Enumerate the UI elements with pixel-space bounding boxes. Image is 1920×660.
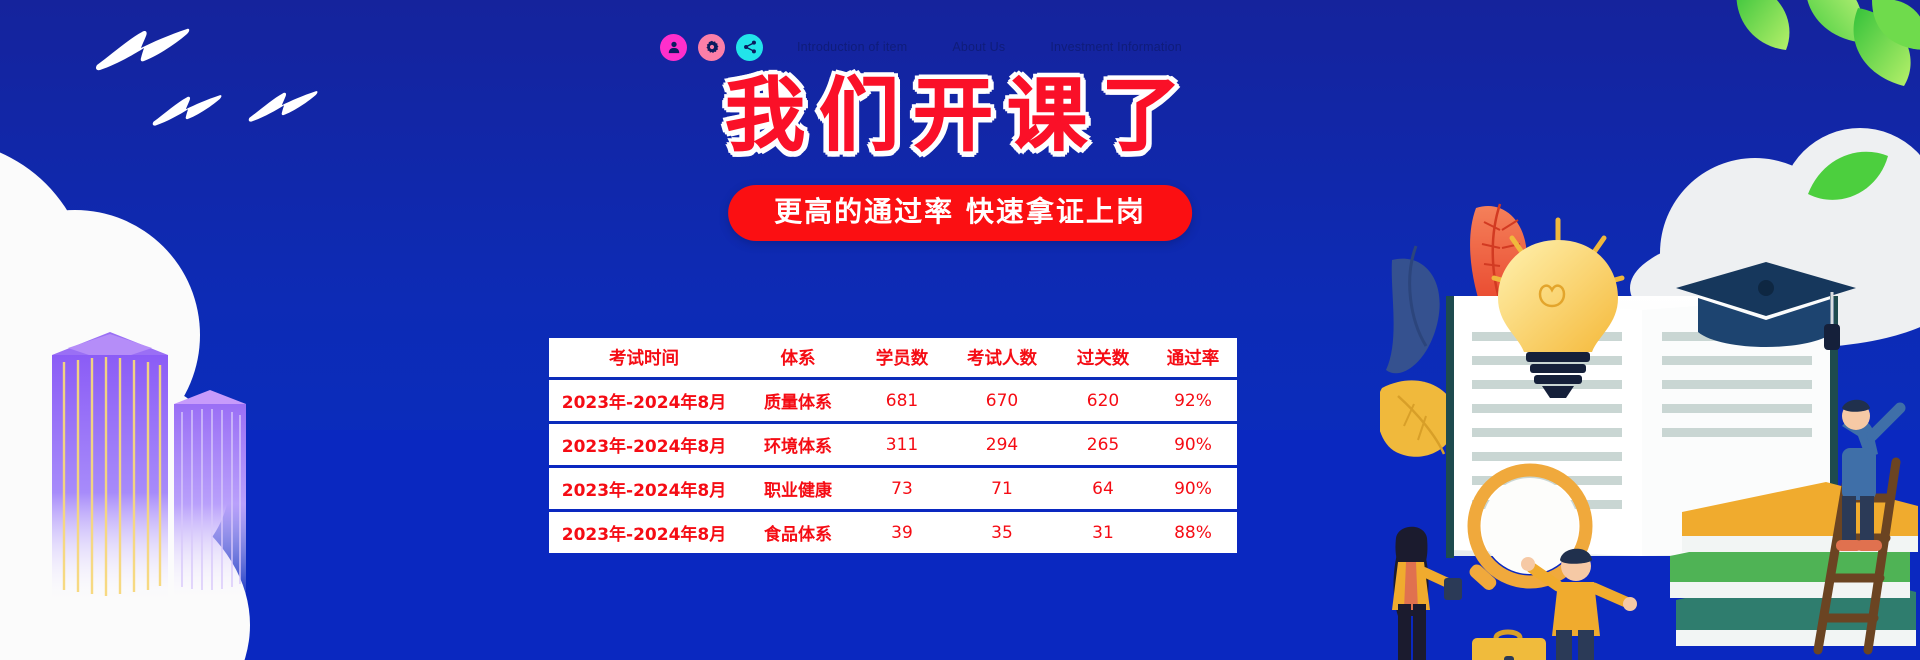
col-header-pass-rate: 通过率: [1149, 345, 1237, 370]
subtitle-text: 更高的通过率 快速拿证上岗: [774, 195, 1146, 229]
share-icon[interactable]: [736, 34, 763, 61]
gear-icon[interactable]: [698, 34, 725, 61]
nav-link-introduction[interactable]: Introduction of item: [797, 40, 907, 54]
user-icon[interactable]: [660, 34, 687, 61]
city-buildings-short: [170, 382, 250, 617]
page-title: 我们开课了: [0, 76, 1920, 156]
nav-link-group: Introduction of item About Us Investment…: [797, 40, 1182, 54]
nav-link-investment[interactable]: Investment Information: [1050, 40, 1182, 54]
cell-system: 质量体系: [739, 388, 857, 413]
seagull-icon-1: [95, 25, 190, 73]
table-row: 2023年-2024年8月 食品体系 39 35 31 88%: [549, 512, 1237, 553]
cell-examinees: 35: [947, 523, 1057, 543]
cell-system: 环境体系: [739, 432, 857, 457]
nav-icon-group: [660, 34, 763, 61]
cell-examinees: 670: [947, 391, 1057, 411]
cell-students: 73: [857, 479, 947, 499]
subtitle-banner: 更高的通过率 快速拿证上岗: [728, 185, 1192, 241]
table-header-row: 考试时间 体系 学员数 考试人数 过关数 通过率: [549, 338, 1237, 377]
cell-system: 职业健康: [739, 476, 857, 501]
col-header-examinees: 考试人数: [947, 345, 1057, 370]
cell-pass-rate: 88%: [1149, 523, 1237, 543]
col-header-passed: 过关数: [1057, 345, 1149, 370]
cell-exam-time: 2023年-2024年8月: [549, 432, 739, 457]
cell-pass-rate: 90%: [1149, 479, 1237, 499]
top-navigation: Introduction of item About Us Investment…: [660, 30, 1182, 64]
nav-link-about-us[interactable]: About Us: [952, 40, 1005, 54]
cell-pass-rate: 92%: [1149, 391, 1237, 411]
cell-passed: 265: [1057, 435, 1149, 455]
cell-students: 311: [857, 435, 947, 455]
table-row: 2023年-2024年8月 职业健康 73 71 64 90%: [549, 468, 1237, 509]
cell-students: 39: [857, 523, 947, 543]
table-row: 2023年-2024年8月 质量体系 681 670 620 92%: [549, 380, 1237, 421]
cell-passed: 620: [1057, 391, 1149, 411]
table-row: 2023年-2024年8月 环境体系 311 294 265 90%: [549, 424, 1237, 465]
banner-stage: Introduction of item About Us Investment…: [0, 0, 1920, 660]
cell-passed: 31: [1057, 523, 1149, 543]
col-header-system: 体系: [739, 345, 857, 370]
cell-system: 食品体系: [739, 520, 857, 545]
cell-exam-time: 2023年-2024年8月: [549, 476, 739, 501]
cell-passed: 64: [1057, 479, 1149, 499]
col-header-exam-time: 考试时间: [549, 345, 739, 370]
green-leaf-corner: [1872, 0, 1920, 69]
cell-examinees: 71: [947, 479, 1057, 499]
education-books-illustration: [1380, 200, 1920, 660]
stats-table: 考试时间 体系 学员数 考试人数 过关数 通过率 2023年-2024年8月 质…: [549, 338, 1237, 553]
cell-examinees: 294: [947, 435, 1057, 455]
city-buildings-tall: [40, 320, 180, 615]
cell-exam-time: 2023年-2024年8月: [549, 388, 739, 413]
col-header-students: 学员数: [857, 345, 947, 370]
cell-exam-time: 2023年-2024年8月: [549, 520, 739, 545]
cell-pass-rate: 90%: [1149, 435, 1237, 455]
cell-students: 681: [857, 391, 947, 411]
